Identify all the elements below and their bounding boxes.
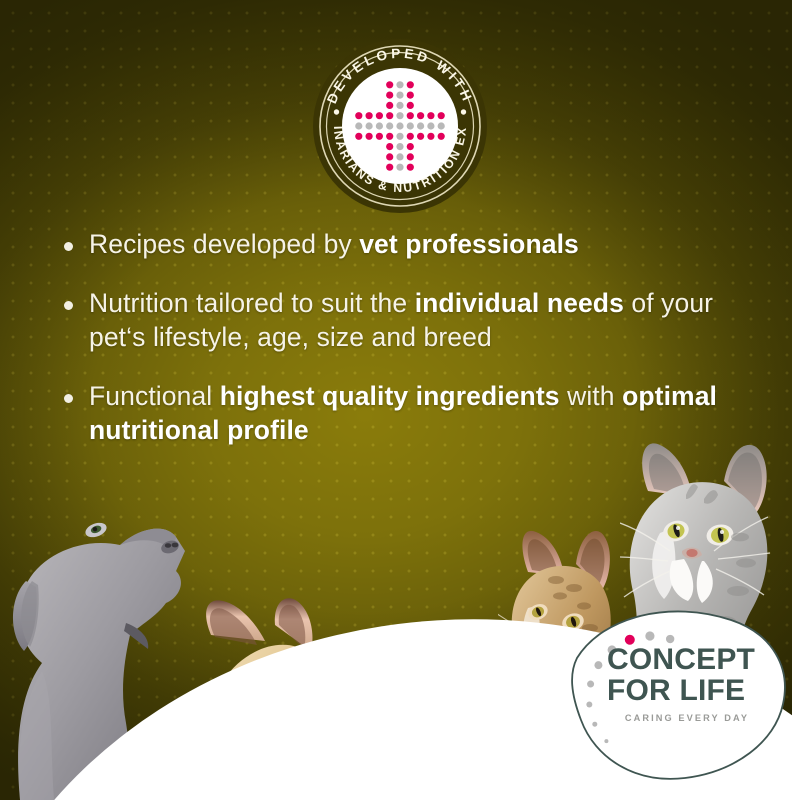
cross-dot [427, 122, 434, 129]
cross-dot [417, 133, 424, 140]
cross-dot [427, 133, 434, 140]
cross-dot [407, 133, 414, 140]
cross-dot [438, 133, 445, 140]
bullet-emphasis: vet professionals [359, 229, 579, 259]
cross-dot [427, 112, 434, 119]
cross-dot [355, 122, 362, 129]
cross-dot [407, 92, 414, 99]
logo-line-1: CONCEPT [607, 646, 787, 675]
cross-dot [438, 112, 445, 119]
cross-dot [366, 112, 373, 119]
cross-dot [396, 92, 403, 99]
cross-dot [396, 133, 403, 140]
bullet-text-0: Recipes developed by vet professionals [89, 228, 579, 261]
cross-dot [386, 153, 393, 160]
cross-dot [386, 81, 393, 88]
cross-dot [366, 122, 373, 129]
cross-dot [396, 112, 403, 119]
bullet-text-1: Nutrition tailored to suit the individua… [89, 287, 764, 354]
cross-dot [386, 112, 393, 119]
cross-dot [417, 122, 424, 129]
bullet-plain: Recipes developed by [89, 229, 359, 259]
cross-dot [366, 133, 373, 140]
bullet-point-icon [64, 301, 73, 310]
bullet-item: Functional highest quality ingredients w… [64, 380, 764, 447]
bullet-plain: with [560, 381, 622, 411]
cross-dot [355, 133, 362, 140]
benefits-bullet-list: Recipes developed by vet professionals N… [64, 228, 764, 473]
cross-dot [407, 164, 414, 171]
logo-wordmark: CONCEPT FOR LIFE CARING EVERY DAY [607, 646, 787, 723]
cross-dot [407, 112, 414, 119]
cross-dot [396, 102, 403, 109]
cross-dot [407, 81, 414, 88]
bullet-emphasis: individual needs [415, 288, 624, 318]
promo-banner: DEVELOPED WITH VETERINARIANS & NUTRITION… [0, 0, 800, 800]
cross-dot [386, 102, 393, 109]
cross-dot [386, 133, 393, 140]
cross-dot [376, 112, 383, 119]
cross-dot [386, 122, 393, 129]
cross-dot [438, 122, 445, 129]
cross-dot [407, 102, 414, 109]
cross-dot [386, 92, 393, 99]
cross-dot [355, 112, 362, 119]
logo-dot [604, 739, 608, 743]
cross-dot [407, 122, 414, 129]
bullet-point-icon [64, 242, 73, 251]
cross-dot [396, 143, 403, 150]
cross-dot [396, 122, 403, 129]
cross-dot [407, 143, 414, 150]
logo-dot [645, 631, 654, 640]
logo-tagline: CARING EVERY DAY [607, 713, 767, 723]
bullet-emphasis: highest quality ingredients [220, 381, 560, 411]
concept-for-life-logo[interactable]: CONCEPT FOR LIFE CARING EVERY DAY [559, 606, 795, 782]
logo-dot [666, 635, 674, 643]
cross-dot [407, 153, 414, 160]
bullet-plain: Functional [89, 381, 220, 411]
bullet-item: Nutrition tailored to suit the individua… [64, 287, 764, 354]
logo-dot [594, 661, 602, 669]
cross-dot [396, 164, 403, 171]
cross-dot [376, 122, 383, 129]
logo-dot [587, 681, 594, 688]
cross-dot [386, 164, 393, 171]
logo-dot [592, 722, 597, 727]
bullet-point-icon [64, 394, 73, 403]
developed-with-badge: DEVELOPED WITH VETERINARIANS & NUTRITION… [312, 38, 488, 214]
cross-dot [376, 133, 383, 140]
bullet-text-2: Functional highest quality ingredients w… [89, 380, 764, 447]
bullet-plain: Nutrition tailored to suit the [89, 288, 415, 318]
cross-dot [417, 112, 424, 119]
logo-dot [586, 701, 592, 707]
logo-line-2: FOR LIFE [607, 677, 787, 706]
cross-dot [386, 143, 393, 150]
cross-dot [396, 81, 403, 88]
bullet-item: Recipes developed by vet professionals [64, 228, 764, 261]
cross-dot [396, 153, 403, 160]
